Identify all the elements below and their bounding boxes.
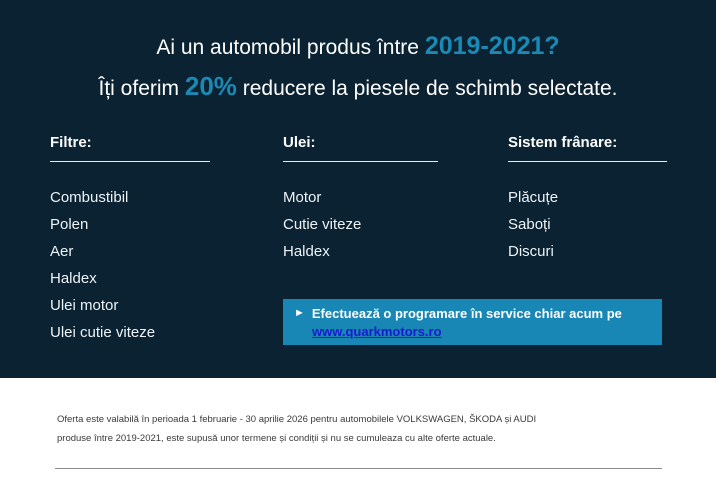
list-item: Aer [50, 238, 210, 265]
list-item: Motor [283, 184, 438, 211]
list-item: Haldex [50, 265, 210, 292]
category-list-filtre: Combustibil Polen Aer Haldex Ulei motor … [50, 162, 210, 346]
headline-block: Ai un automobil produs între 2019-2021? … [0, 30, 716, 105]
cta-website-link[interactable]: www.quarkmotors.ro [312, 323, 442, 340]
cta-row: ► Efectuează o programare în service chi… [294, 305, 662, 322]
list-item: Polen [50, 211, 210, 238]
headline-year-range: 2019-2021? [425, 32, 560, 60]
category-column-filtre: Filtre: Combustibil Polen Aer Haldex Ule… [50, 134, 210, 346]
triangle-right-icon: ► [294, 305, 312, 322]
category-column-ulei: Ulei: Motor Cutie viteze Haldex [283, 134, 438, 265]
list-item: Cutie viteze [283, 211, 438, 238]
headline-line-2: Îți oferim 20% reducere la piesele de sc… [0, 70, 716, 105]
headline-line-1-prefix: Ai un automobil produs între [156, 36, 425, 59]
footer-divider [55, 468, 662, 469]
column-title-sistem-franare: Sistem frânare: [508, 134, 667, 161]
list-item: Ulei cutie viteze [50, 319, 210, 346]
list-item: Discuri [508, 238, 667, 265]
headline-line-2-suffix: reducere la piesele de schimb selectate. [237, 77, 618, 100]
list-item: Plăcuțe [508, 184, 667, 211]
list-item: Saboți [508, 211, 667, 238]
footer-line-1: Oferta este valabilă în perioada 1 febru… [57, 410, 667, 429]
cta-banner[interactable]: ► Efectuează o programare în service chi… [283, 299, 662, 345]
footer-line-2: produse între 2019-2021, este supusă uno… [57, 429, 667, 448]
list-item: Combustibil [50, 184, 210, 211]
column-title-filtre: Filtre: [50, 134, 210, 161]
category-column-sistem-franare: Sistem frânare: Plăcuțe Saboți Discuri [508, 134, 667, 265]
category-list-sistem-franare: Plăcuțe Saboți Discuri [508, 162, 667, 265]
headline-discount-percent: 20% [185, 71, 237, 101]
headline-line-1: Ai un automobil produs între 2019-2021? [0, 30, 716, 64]
promo-banner: Ai un automobil produs între 2019-2021? … [0, 0, 716, 477]
hero-panel: Ai un automobil produs între 2019-2021? … [0, 0, 716, 378]
headline-line-2-prefix: Îți oferim [99, 77, 185, 100]
list-item: Ulei motor [50, 292, 210, 319]
column-title-ulei: Ulei: [283, 134, 438, 161]
footer-disclaimer: Oferta este valabilă în perioada 1 febru… [57, 410, 667, 448]
cta-text: Efectuează o programare în service chiar… [312, 305, 622, 322]
list-item: Haldex [283, 238, 438, 265]
category-list-ulei: Motor Cutie viteze Haldex [283, 162, 438, 265]
